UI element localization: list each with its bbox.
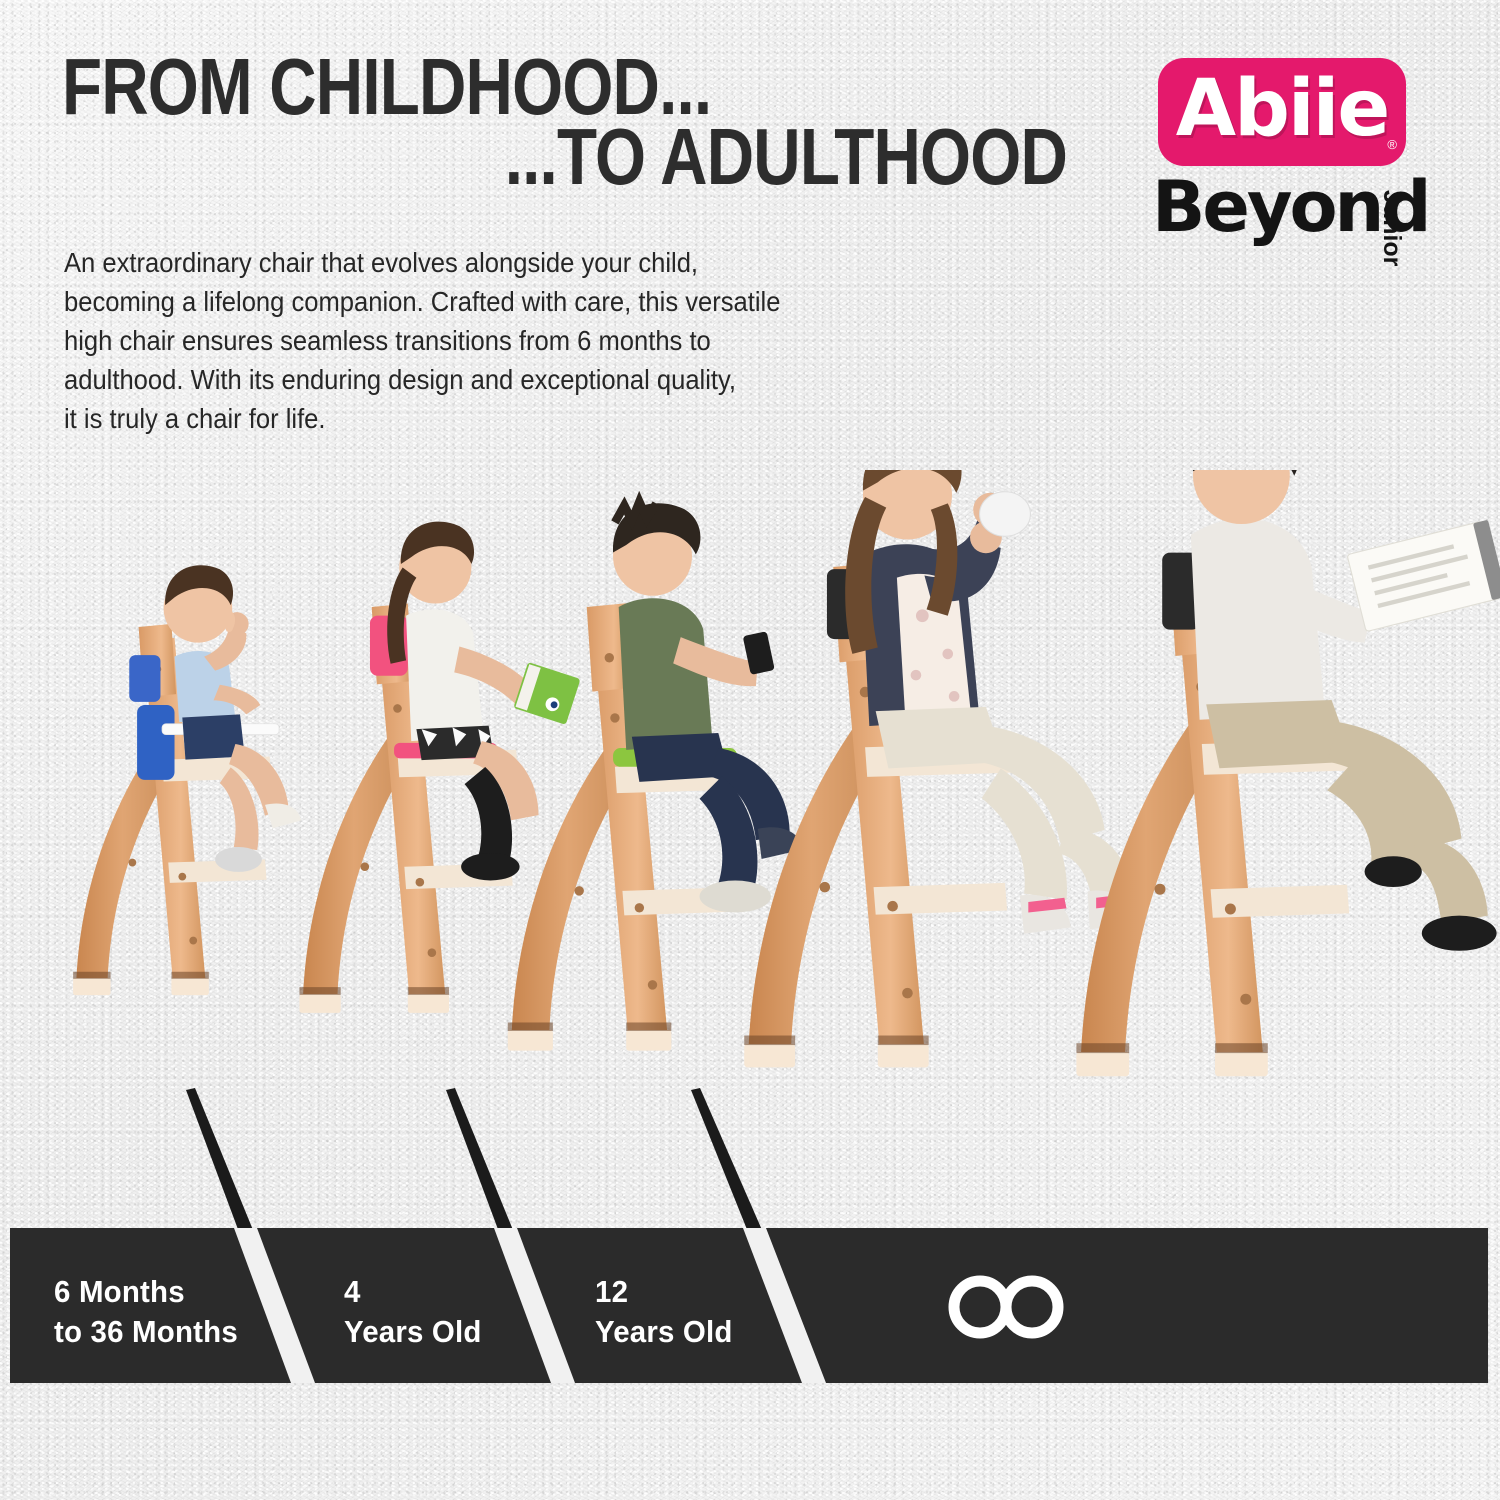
infinity-icon xyxy=(940,1272,1080,1342)
segment-2-line-1: 4 xyxy=(344,1272,482,1312)
page-title: FROM CHILDHOOD... ...TO ADULTHOOD xyxy=(62,52,1022,193)
segment-2-line-2: Years Old xyxy=(344,1312,482,1352)
segment-1-line-2: to 36 Months xyxy=(54,1312,238,1352)
body-line: An extraordinary chair that evolves alon… xyxy=(64,243,1013,282)
brand-badge: Abiie ® xyxy=(1158,58,1406,166)
edition-label: Junior xyxy=(1377,190,1406,266)
scene-illustration xyxy=(0,470,1500,1130)
body-line: high chair ensures seamless transitions … xyxy=(64,321,1013,360)
figure-toddler xyxy=(73,565,301,995)
brand-name: Abiie xyxy=(1176,70,1389,148)
headline-line-2: ...TO ADULTHOOD xyxy=(126,122,1067,192)
segment-3-line-2: Years Old xyxy=(595,1312,733,1352)
infographic-root: FROM CHILDHOOD... ...TO ADULTHOOD An ext… xyxy=(0,0,1500,1500)
segment-1-line-1: 6 Months xyxy=(54,1272,238,1312)
body-line: adulthood. With its enduring design and … xyxy=(64,360,1013,399)
connector-1 xyxy=(186,1088,253,1232)
age-range-banner: 6 Months to 36 Months 4 Years Old 12 Yea… xyxy=(10,1228,1488,1383)
body-line: it is truly a chair for life. xyxy=(64,399,1013,438)
figure-man xyxy=(1076,470,1500,1076)
product-progression-photo xyxy=(0,470,1500,1130)
connector-3 xyxy=(691,1088,762,1232)
banner-segment-3: 12 Years Old xyxy=(595,1272,733,1352)
banner-segment-1: 6 Months to 36 Months xyxy=(54,1272,238,1352)
intro-paragraph: An extraordinary chair that evolves alon… xyxy=(64,243,1013,438)
product-line-wrap: Beyond Junior xyxy=(1158,172,1428,250)
segment-3-line-1: 12 xyxy=(595,1272,733,1312)
connector-2 xyxy=(446,1088,513,1232)
brand-logo: Abiie ® Beyond Junior xyxy=(1158,58,1428,250)
registered-mark: ® xyxy=(1387,137,1397,152)
figure-woman xyxy=(744,470,1136,1067)
banner-segment-2: 4 Years Old xyxy=(344,1272,482,1352)
banner-segment-4 xyxy=(940,1272,1080,1347)
body-line: becoming a lifelong companion. Crafted w… xyxy=(64,282,1013,321)
